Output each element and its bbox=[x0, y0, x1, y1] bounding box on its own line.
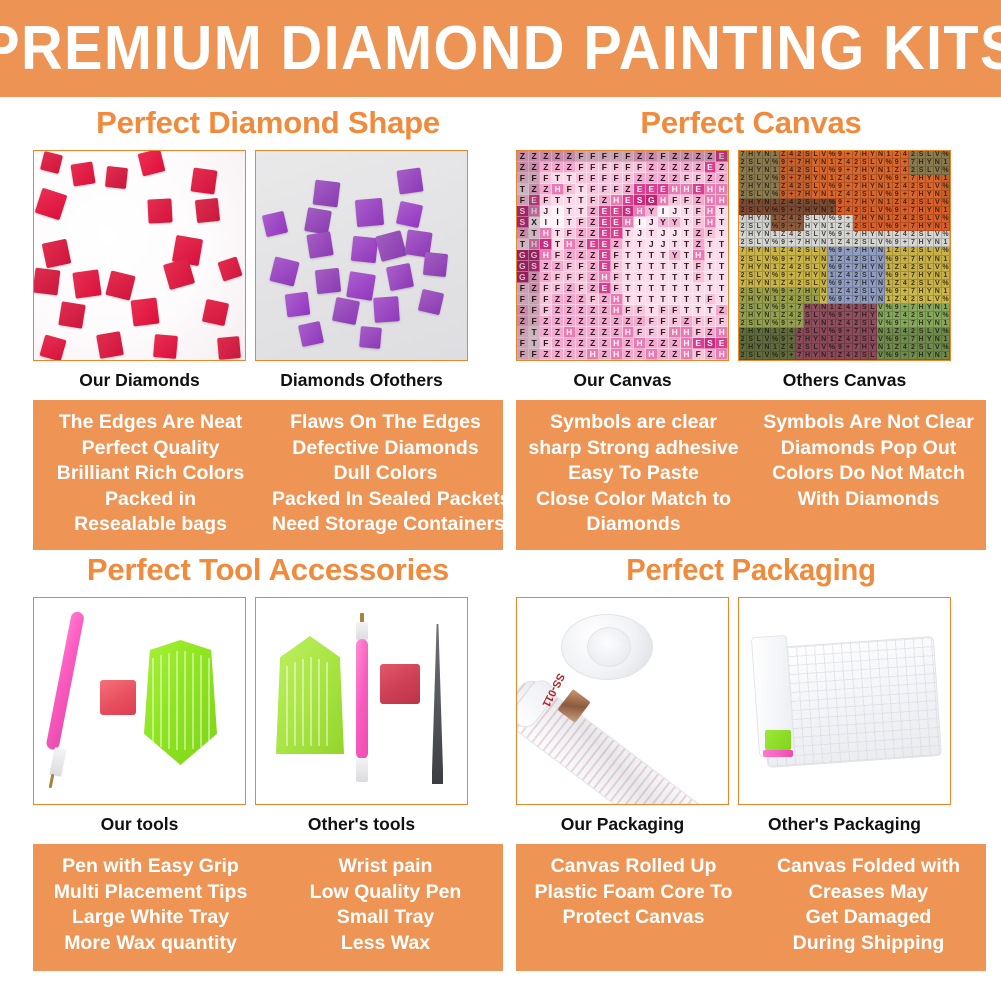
canvas-symbol-cell: % bbox=[885, 256, 893, 264]
canvas-symbol-cell: 4 bbox=[788, 344, 796, 352]
canvas-symbol-cell: V bbox=[763, 288, 771, 296]
canvas-symbol-cell: H bbox=[681, 184, 693, 195]
canvas-symbol-cell: S bbox=[918, 344, 926, 352]
canvas-symbol-cell: F bbox=[705, 294, 717, 305]
canvas-symbol-cell: N bbox=[877, 199, 885, 207]
canvas-symbol-cell: Z bbox=[540, 272, 552, 283]
canvas-symbol-cell: N bbox=[763, 264, 771, 272]
canvas-symbol-cell: T bbox=[646, 294, 658, 305]
canvas-symbol-cell: 2 bbox=[739, 288, 747, 296]
canvas-symbol-cell: 7 bbox=[739, 231, 747, 239]
canvas-symbol-cell: 1 bbox=[771, 231, 779, 239]
canvas-symbol-cell: Y bbox=[926, 207, 934, 215]
caption-row-diamond-shape: Our Diamonds Diamonds Ofothers bbox=[33, 367, 503, 393]
canvas-symbol-cell: 4 bbox=[901, 167, 909, 175]
canvas-symbol-cell: % bbox=[942, 312, 950, 320]
canvas-symbol-cell: % bbox=[942, 215, 950, 223]
canvas-symbol-cell: 7 bbox=[796, 288, 804, 296]
textbox-line: Wrist pain bbox=[272, 854, 499, 880]
diamond-bead bbox=[375, 230, 407, 262]
canvas-symbol-cell: Y bbox=[812, 223, 820, 231]
canvas-symbol-cell: + bbox=[901, 320, 909, 328]
canvas-symbol-cell: Z bbox=[780, 231, 788, 239]
canvas-symbol-cell: S bbox=[747, 191, 755, 199]
canvas-symbol-cell: F bbox=[564, 272, 576, 283]
canvas-symbol-cell: Z bbox=[634, 316, 646, 327]
canvas-symbol-cell: % bbox=[828, 215, 836, 223]
canvas-symbol-cell: T bbox=[564, 173, 576, 184]
canvas-symbol-cell: L bbox=[755, 223, 763, 231]
canvas-symbol-cell: Z bbox=[564, 349, 576, 360]
canvas-symbol-cell: T bbox=[716, 228, 728, 239]
canvas-symbol-cell: 1 bbox=[828, 288, 836, 296]
canvas-symbol-cell: N bbox=[820, 288, 828, 296]
canvas-symbol-cell: V bbox=[877, 159, 885, 167]
canvas-symbol-cell: 9 bbox=[780, 223, 788, 231]
canvas-symbol-cell: E bbox=[716, 151, 728, 162]
canvas-symbol-cell: H bbox=[804, 304, 812, 312]
canvas-symbol-cell: L bbox=[926, 167, 934, 175]
canvas-symbol-cell: L bbox=[926, 328, 934, 336]
canvas-symbol-cell: Z bbox=[517, 151, 529, 162]
canvas-symbol-cell: E bbox=[693, 184, 705, 195]
canvas-symbol-cell: N bbox=[934, 288, 942, 296]
canvas-symbol-cell: H bbox=[747, 183, 755, 191]
canvas-symbol-cell: 9 bbox=[780, 272, 788, 280]
textbox-line: Canvas Folded with bbox=[755, 854, 982, 880]
canvas-symbol-cell: T bbox=[634, 272, 646, 283]
canvas-symbol-cell: F bbox=[658, 327, 670, 338]
canvas-symbol-cell: 1 bbox=[885, 312, 893, 320]
canvas-symbol-cell: Z bbox=[599, 338, 611, 349]
canvas-symbol-cell: 7 bbox=[909, 304, 917, 312]
canvas-symbol-cell: + bbox=[845, 151, 853, 159]
canvas-symbol-cell: + bbox=[901, 223, 909, 231]
canvas-symbol-cell: E bbox=[611, 206, 623, 217]
canvas-symbol-cell: Y bbox=[869, 328, 877, 336]
canvas-symbol-cell: H bbox=[747, 312, 755, 320]
canvas-symbol-cell: F bbox=[587, 184, 599, 195]
canvas-symbol-cell: L bbox=[755, 239, 763, 247]
canvas-symbol-cell: Z bbox=[693, 151, 705, 162]
canvas-symbol-cell: E bbox=[658, 184, 670, 195]
section-canvas: Perfect Canvas ZZZZZFFFFFZZFZZZZEZZZZZFF… bbox=[516, 100, 986, 550]
canvas-symbol-cell: Y bbox=[755, 231, 763, 239]
textcol-our-tools: Pen with Easy GripMulti Placement TipsLa… bbox=[33, 854, 268, 959]
canvas-symbol-cell: 7 bbox=[739, 296, 747, 304]
canvas-symbol-cell: Y bbox=[926, 256, 934, 264]
canvas-symbol-cell: S bbox=[861, 272, 869, 280]
canvas-symbol-cell: 1 bbox=[771, 199, 779, 207]
canvas-symbol-cell: % bbox=[828, 344, 836, 352]
canvas-symbol-cell: 1 bbox=[771, 264, 779, 272]
canvas-symbol-cell: H bbox=[747, 280, 755, 288]
canvas-symbol-cell: Y bbox=[669, 217, 681, 228]
canvas-symbol-cell: 4 bbox=[788, 215, 796, 223]
canvas-symbol-cell: L bbox=[869, 304, 877, 312]
canvas-symbol-cell: 7 bbox=[796, 159, 804, 167]
canvas-symbol-cell: % bbox=[942, 231, 950, 239]
caption-others-packaging: Other's Packaging bbox=[738, 811, 951, 837]
canvas-symbol-cell: N bbox=[934, 256, 942, 264]
canvas-symbol-cell: T bbox=[681, 217, 693, 228]
canvas-symbol-cell: S bbox=[918, 151, 926, 159]
canvas-symbol-cell: F bbox=[634, 305, 646, 316]
diamond-bead bbox=[346, 271, 376, 301]
textbox-line: Perfect Quality bbox=[37, 436, 264, 462]
canvas-symbol-cell: H bbox=[747, 296, 755, 304]
textbox-line: Small Tray bbox=[272, 905, 499, 931]
diamond-bead bbox=[42, 239, 72, 269]
canvas-symbol-cell: S bbox=[517, 217, 529, 228]
canvas-symbol-cell: V bbox=[877, 352, 885, 360]
other-wax-square-icon bbox=[380, 664, 420, 704]
caption-others-diamonds: Diamonds Ofothers bbox=[255, 367, 468, 393]
canvas-symbol-cell: 2 bbox=[853, 239, 861, 247]
canvas-symbol-cell: 1 bbox=[828, 352, 836, 360]
canvas-symbol-cell: N bbox=[877, 328, 885, 336]
canvas-symbol-cell: 9 bbox=[780, 320, 788, 328]
canvas-symbol-cell: Z bbox=[780, 280, 788, 288]
canvas-symbol-cell: Z bbox=[552, 349, 564, 360]
canvas-symbol-cell: H bbox=[861, 312, 869, 320]
canvas-symbol-cell: L bbox=[926, 215, 934, 223]
canvas-symbol-cell: F bbox=[693, 272, 705, 283]
canvas-symbol-cell: L bbox=[812, 167, 820, 175]
canvas-symbol-cell: F bbox=[693, 261, 705, 272]
canvas-symbol-cell: H bbox=[804, 159, 812, 167]
canvas-symbol-cell: T bbox=[634, 261, 646, 272]
canvas-symbol-cell: % bbox=[828, 199, 836, 207]
textcol-others-tools: Wrist painLow Quality PenSmall TrayLess … bbox=[268, 854, 503, 959]
canvas-symbol-cell: Z bbox=[552, 305, 564, 316]
canvas-symbol-cell: + bbox=[901, 272, 909, 280]
canvas-symbol-cell: 1 bbox=[771, 183, 779, 191]
canvas-symbol-cell: Y bbox=[869, 183, 877, 191]
canvas-symbol-cell: 2 bbox=[909, 167, 917, 175]
textbox-line: Large White Tray bbox=[37, 905, 264, 931]
canvas-symbol-cell: F bbox=[587, 195, 599, 206]
canvas-symbol-cell: F bbox=[517, 173, 529, 184]
canvas-symbol-cell: N bbox=[820, 304, 828, 312]
canvas-symbol-cell: F bbox=[599, 151, 611, 162]
canvas-symbol-cell: Z bbox=[893, 280, 901, 288]
canvas-symbol-cell: T bbox=[716, 217, 728, 228]
canvas-symbol-cell: Y bbox=[926, 352, 934, 360]
canvas-symbol-cell: E bbox=[599, 228, 611, 239]
canvas-symbol-cell: V bbox=[877, 336, 885, 344]
canvas-symbol-cell: 9 bbox=[836, 247, 844, 255]
canvas-symbol-cell: Y bbox=[812, 352, 820, 360]
canvas-symbol-cell: 2 bbox=[909, 296, 917, 304]
canvas-symbol-cell: F bbox=[517, 338, 529, 349]
canvas-symbol-cell: Z bbox=[836, 256, 844, 264]
caption-our-canvas: Our Canvas bbox=[516, 367, 729, 393]
diamond-bead bbox=[351, 236, 378, 263]
canvas-symbol-cell: S bbox=[747, 175, 755, 183]
canvas-symbol-cell: Y bbox=[926, 288, 934, 296]
canvas-symbol-cell: 2 bbox=[909, 215, 917, 223]
canvas-symbol-cell: T bbox=[646, 250, 658, 261]
canvas-symbol-cell: 2 bbox=[796, 167, 804, 175]
canvas-symbol-cell: S bbox=[747, 207, 755, 215]
diamond-bead bbox=[96, 331, 124, 359]
canvas-symbol-cell: Z bbox=[716, 173, 728, 184]
canvas-symbol-cell: 7 bbox=[909, 223, 917, 231]
canvas-symbol-cell: % bbox=[942, 151, 950, 159]
canvas-symbol-cell: T bbox=[623, 228, 635, 239]
canvas-symbol-cell: T bbox=[669, 283, 681, 294]
canvas-symbol-cell: N bbox=[934, 175, 942, 183]
canvas-symbol-cell: 4 bbox=[901, 183, 909, 191]
canvas-symbol-cell: V bbox=[763, 256, 771, 264]
canvas-symbol-cell: 2 bbox=[739, 159, 747, 167]
canvas-symbol-cell: Z bbox=[716, 162, 728, 173]
canvas-symbol-cell: % bbox=[942, 296, 950, 304]
canvas-symbol-cell: H bbox=[861, 199, 869, 207]
canvas-symbol-cell: V bbox=[934, 247, 942, 255]
canvas-symbol-cell: T bbox=[634, 250, 646, 261]
canvas-symbol-cell: S bbox=[747, 320, 755, 328]
our-diamonds-photo bbox=[33, 150, 246, 361]
canvas-symbol-cell: V bbox=[934, 328, 942, 336]
canvas-symbol-cell: N bbox=[934, 223, 942, 231]
canvas-symbol-cell: Y bbox=[926, 304, 934, 312]
diamond-bead bbox=[262, 211, 288, 237]
canvas-symbol-cell: Z bbox=[658, 173, 670, 184]
canvas-symbol-cell: V bbox=[934, 264, 942, 272]
canvas-symbol-cell: 4 bbox=[901, 264, 909, 272]
canvas-symbol-cell: L bbox=[926, 296, 934, 304]
canvas-symbol-cell: Y bbox=[755, 264, 763, 272]
canvas-symbol-cell: H bbox=[705, 206, 717, 217]
canvas-symbol-cell: % bbox=[828, 167, 836, 175]
canvas-symbol-cell: 2 bbox=[796, 151, 804, 159]
canvas-symbol-cell: F bbox=[540, 195, 552, 206]
canvas-symbol-cell: Z bbox=[517, 162, 529, 173]
canvas-symbol-cell: L bbox=[812, 344, 820, 352]
canvas-symbol-cell: 7 bbox=[909, 288, 917, 296]
canvas-symbol-cell: L bbox=[926, 247, 934, 255]
canvas-symbol-cell: Y bbox=[755, 151, 763, 159]
canvas-symbol-cell: Y bbox=[926, 239, 934, 247]
diamond-bead bbox=[40, 151, 63, 174]
canvas-symbol-cell: 4 bbox=[788, 231, 796, 239]
canvas-symbol-cell: 7 bbox=[739, 344, 747, 352]
diamond-bead bbox=[423, 252, 448, 277]
canvas-symbol-cell: Z bbox=[836, 352, 844, 360]
canvas-symbol-cell: L bbox=[755, 175, 763, 183]
textbox-line: Diamonds bbox=[520, 512, 747, 538]
canvas-symbol-cell: S bbox=[634, 195, 646, 206]
textbox-line: Diamonds Pop Out bbox=[755, 436, 982, 462]
canvas-symbol-cell: % bbox=[942, 264, 950, 272]
canvas-symbol-cell: T bbox=[716, 239, 728, 250]
canvas-symbol-cell: Z bbox=[623, 338, 635, 349]
canvas-symbol-cell: 9 bbox=[893, 304, 901, 312]
canvas-symbol-cell: T bbox=[529, 338, 541, 349]
canvas-symbol-cell: 4 bbox=[845, 320, 853, 328]
canvas-symbol-cell: F bbox=[623, 173, 635, 184]
canvas-symbol-cell: J bbox=[669, 228, 681, 239]
canvas-symbol-cell: H bbox=[716, 349, 728, 360]
canvas-symbol-cell: T bbox=[705, 239, 717, 250]
canvas-symbol-cell: T bbox=[681, 305, 693, 316]
canvas-symbol-cell: + bbox=[845, 247, 853, 255]
canvas-symbol-cell: 2 bbox=[909, 151, 917, 159]
canvas-symbol-cell: F bbox=[552, 272, 564, 283]
canvas-symbol-cell: 9 bbox=[780, 256, 788, 264]
textcol-our-packaging: Canvas Rolled UpPlastic Foam Core ToProt… bbox=[516, 854, 751, 959]
canvas-symbol-cell: 9 bbox=[836, 231, 844, 239]
canvas-symbol-cell: H bbox=[716, 184, 728, 195]
canvas-symbol-cell: N bbox=[934, 336, 942, 344]
canvas-symbol-cell: 7 bbox=[739, 151, 747, 159]
canvas-symbol-cell: L bbox=[812, 280, 820, 288]
textbox-line: Get Damaged bbox=[755, 905, 982, 931]
canvas-symbol-cell: N bbox=[877, 231, 885, 239]
diamond-bead bbox=[35, 188, 68, 221]
canvas-symbol-cell: N bbox=[934, 272, 942, 280]
canvas-symbol-cell: Z bbox=[780, 183, 788, 191]
canvas-symbol-cell: Z bbox=[836, 159, 844, 167]
canvas-symbol-cell: L bbox=[926, 231, 934, 239]
canvas-symbol-cell: 1 bbox=[828, 159, 836, 167]
canvas-symbol-cell: H bbox=[918, 159, 926, 167]
canvas-symbol-cell: Z bbox=[780, 247, 788, 255]
canvas-symbol-cell: H bbox=[705, 217, 717, 228]
canvas-symbol-cell: H bbox=[540, 228, 552, 239]
canvas-symbol-cell: 1 bbox=[942, 304, 950, 312]
canvas-symbol-cell: Z bbox=[517, 305, 529, 316]
canvas-symbol-cell: H bbox=[634, 338, 646, 349]
canvas-symbol-cell: 2 bbox=[909, 280, 917, 288]
canvas-symbol-cell: H bbox=[804, 256, 812, 264]
canvas-symbol-cell: 2 bbox=[796, 296, 804, 304]
canvas-symbol-cell: F bbox=[587, 151, 599, 162]
canvas-symbol-cell: % bbox=[828, 151, 836, 159]
canvas-symbol-cell: Z bbox=[669, 349, 681, 360]
textbox-tools: Pen with Easy GripMulti Placement TipsLa… bbox=[33, 844, 503, 971]
canvas-symbol-cell: Z bbox=[517, 316, 529, 327]
canvas-symbol-cell: N bbox=[934, 239, 942, 247]
canvas-symbol-cell: S bbox=[747, 223, 755, 231]
canvas-symbol-cell: H bbox=[599, 272, 611, 283]
canvas-symbol-cell: 9 bbox=[780, 288, 788, 296]
canvas-symbol-cell: S bbox=[804, 247, 812, 255]
canvas-symbol-cell: F bbox=[658, 151, 670, 162]
canvas-symbol-cell: F bbox=[705, 316, 717, 327]
canvas-symbol-cell: S bbox=[861, 207, 869, 215]
canvas-symbol-cell: E bbox=[599, 250, 611, 261]
canvas-symbol-cell: Z bbox=[681, 316, 693, 327]
canvas-symbol-cell: 7 bbox=[796, 272, 804, 280]
canvas-symbol-cell: I bbox=[552, 217, 564, 228]
canvas-symbol-cell: F bbox=[529, 305, 541, 316]
canvas-symbol-cell: T bbox=[716, 261, 728, 272]
canvas-symbol-cell: T bbox=[705, 261, 717, 272]
canvas-symbol-cell: H bbox=[861, 215, 869, 223]
diamond-bead bbox=[105, 166, 128, 189]
canvas-symbol-cell: % bbox=[942, 344, 950, 352]
canvas-symbol-cell: V bbox=[934, 215, 942, 223]
section-diamond-shape: Perfect Diamond Shape Our Diamonds Diamo… bbox=[33, 100, 503, 550]
canvas-symbol-cell: E bbox=[599, 206, 611, 217]
canvas-symbol-cell: L bbox=[926, 312, 934, 320]
canvas-symbol-cell: + bbox=[845, 183, 853, 191]
canvas-symbol-cell: H bbox=[611, 195, 623, 206]
canvas-symbol-cell: % bbox=[885, 352, 893, 360]
textcol-others-packaging: Canvas Folded withCreases MayGet Damaged… bbox=[751, 854, 986, 959]
canvas-symbol-cell: I bbox=[634, 217, 646, 228]
canvas-symbol-cell: F bbox=[716, 316, 728, 327]
caption-row-packaging: Our Packaging Other's Packaging bbox=[516, 811, 986, 837]
canvas-symbol-cell: T bbox=[529, 228, 541, 239]
canvas-symbol-cell: + bbox=[901, 352, 909, 360]
canvas-symbol-cell: Z bbox=[587, 250, 599, 261]
canvas-symbol-cell: V bbox=[877, 320, 885, 328]
canvas-symbol-cell: % bbox=[885, 175, 893, 183]
canvas-symbol-cell: T bbox=[623, 272, 635, 283]
canvas-symbol-cell: I bbox=[658, 206, 670, 217]
canvas-symbol-cell: N bbox=[877, 344, 885, 352]
canvas-symbol-cell: 7 bbox=[796, 191, 804, 199]
canvas-symbol-cell: Z bbox=[658, 162, 670, 173]
canvas-symbol-cell: % bbox=[885, 272, 893, 280]
canvas-symbol-cell: T bbox=[716, 206, 728, 217]
red-diamond-scatter bbox=[34, 151, 245, 360]
canvas-symbol-cell: Z bbox=[552, 162, 564, 173]
canvas-symbol-cell: Z bbox=[564, 250, 576, 261]
canvas-symbol-cell: S bbox=[747, 336, 755, 344]
canvas-symbol-cell: 7 bbox=[909, 207, 917, 215]
canvas-symbol-cell: Y bbox=[926, 336, 934, 344]
canvas-symbol-cell: H bbox=[861, 344, 869, 352]
diamond-bead bbox=[190, 167, 217, 194]
diamond-bead bbox=[138, 150, 166, 176]
canvas-symbol-cell: Z bbox=[893, 328, 901, 336]
canvas-symbol-cell: G bbox=[517, 272, 529, 283]
canvas-symbol-cell: 7 bbox=[853, 312, 861, 320]
canvas-symbol-cell: H bbox=[804, 352, 812, 360]
canvas-symbol-cell: V bbox=[820, 183, 828, 191]
diamond-bead bbox=[373, 296, 400, 323]
canvas-symbol-cell: H bbox=[681, 327, 693, 338]
other-pen-lower-tip-icon bbox=[356, 758, 368, 782]
canvas-symbol-cell: I bbox=[540, 217, 552, 228]
textbox-line: Canvas Rolled Up bbox=[520, 854, 747, 880]
canvas-symbol-cell: H bbox=[918, 352, 926, 360]
canvas-symbol-cell: H bbox=[669, 327, 681, 338]
canvas-symbol-cell: 4 bbox=[788, 280, 796, 288]
canvas-symbol-cell: H bbox=[747, 247, 755, 255]
canvas-symbol-cell: 9 bbox=[780, 159, 788, 167]
canvas-symbol-cell: V bbox=[763, 239, 771, 247]
canvas-symbol-cell: N bbox=[877, 215, 885, 223]
section-title-tools: Perfect Tool Accessories bbox=[33, 547, 503, 597]
canvas-symbol-cell: % bbox=[942, 247, 950, 255]
canvas-symbol-cell: N bbox=[763, 344, 771, 352]
canvas-symbol-cell: L bbox=[869, 336, 877, 344]
canvas-symbol-cell: H bbox=[804, 336, 812, 344]
canvas-symbol-cell: Y bbox=[646, 206, 658, 217]
canvas-symbol-cell: H bbox=[564, 327, 576, 338]
canvas-symbol-cell: V bbox=[820, 199, 828, 207]
canvas-symbol-cell: F bbox=[623, 305, 635, 316]
canvas-symbol-cell: + bbox=[788, 320, 796, 328]
canvas-symbol-cell: H bbox=[918, 320, 926, 328]
canvas-symbol-cell: Z bbox=[564, 162, 576, 173]
